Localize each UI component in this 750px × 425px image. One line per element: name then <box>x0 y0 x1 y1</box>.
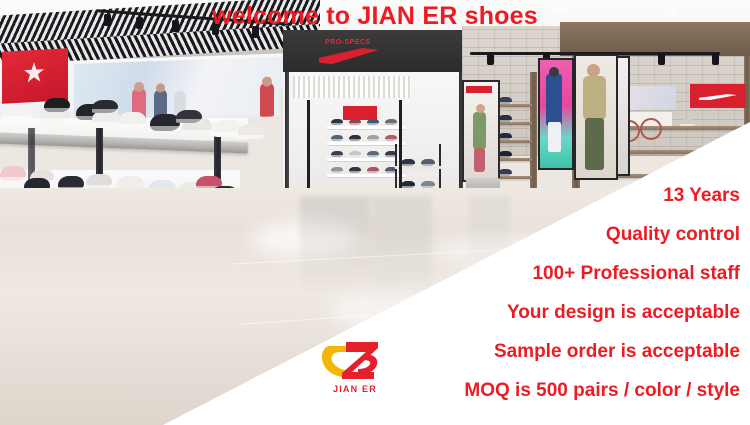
shoe-item <box>176 110 202 123</box>
shoe-item <box>331 135 343 141</box>
shoe-item <box>498 169 512 176</box>
shoe-item <box>349 119 361 125</box>
shoe-item <box>498 151 512 158</box>
perforated-panel <box>293 76 411 98</box>
storefront-swoosh-icon <box>319 48 379 64</box>
shoe-item <box>367 167 379 173</box>
shoe-item <box>118 112 146 128</box>
promo-banner: PRO-SPECS <box>0 0 750 425</box>
storefront-brand-label: PRO-SPECS <box>325 39 371 46</box>
shoe-item <box>92 100 118 113</box>
shoe-item <box>680 119 695 126</box>
digital-display-edge <box>616 56 630 176</box>
banner-title: welcome to JIAN ER shoes <box>0 1 750 31</box>
wall-rack <box>327 126 405 129</box>
shoe-item <box>349 167 361 173</box>
spot-light <box>712 53 719 65</box>
feature-item: Your design is acceptable <box>280 293 740 332</box>
wall-poster-red <box>2 48 68 103</box>
shoe-item <box>385 119 397 125</box>
jian-er-wordmark: JIAN ER <box>312 384 398 394</box>
shoe-item <box>238 124 264 139</box>
wall-artwork <box>624 86 676 110</box>
shoe-item <box>2 104 32 121</box>
feature-item: 100+ Professional staff <box>280 254 740 293</box>
shoe-item <box>498 133 512 140</box>
shoe-item <box>367 119 379 125</box>
shoe-item <box>498 97 512 104</box>
jian-er-logo-mark <box>312 338 398 384</box>
shoe-item <box>421 159 435 166</box>
digital-display-pink <box>538 58 574 170</box>
shoe-item <box>0 166 26 181</box>
shoe-item <box>86 174 112 189</box>
ring-decor <box>640 118 662 140</box>
shoe-item <box>349 151 361 157</box>
storefront-fascia: PRO-SPECS <box>283 30 465 72</box>
jian-er-logo: JIAN ER <box>312 338 398 394</box>
digital-display-model <box>574 54 618 180</box>
wall-rack <box>327 158 405 161</box>
shoe-item <box>367 151 379 157</box>
shoe-item <box>331 167 343 173</box>
shoe-item <box>498 115 512 122</box>
shoe-item <box>385 135 397 141</box>
spot-light <box>658 53 665 65</box>
shoe-item <box>331 119 343 125</box>
shoe-item <box>44 98 70 112</box>
pro-specs-wall-sign <box>690 84 746 108</box>
shoe-item <box>367 135 379 141</box>
shoe-item <box>349 135 361 141</box>
wall-rack <box>327 142 405 145</box>
feature-item: 13 Years <box>280 176 740 215</box>
model-poster-left <box>462 80 500 182</box>
shoe-item <box>401 159 415 166</box>
interior-red-sign <box>343 106 377 120</box>
feature-item: Quality control <box>280 215 740 254</box>
spot-light <box>487 53 494 65</box>
shoe-item <box>331 151 343 157</box>
